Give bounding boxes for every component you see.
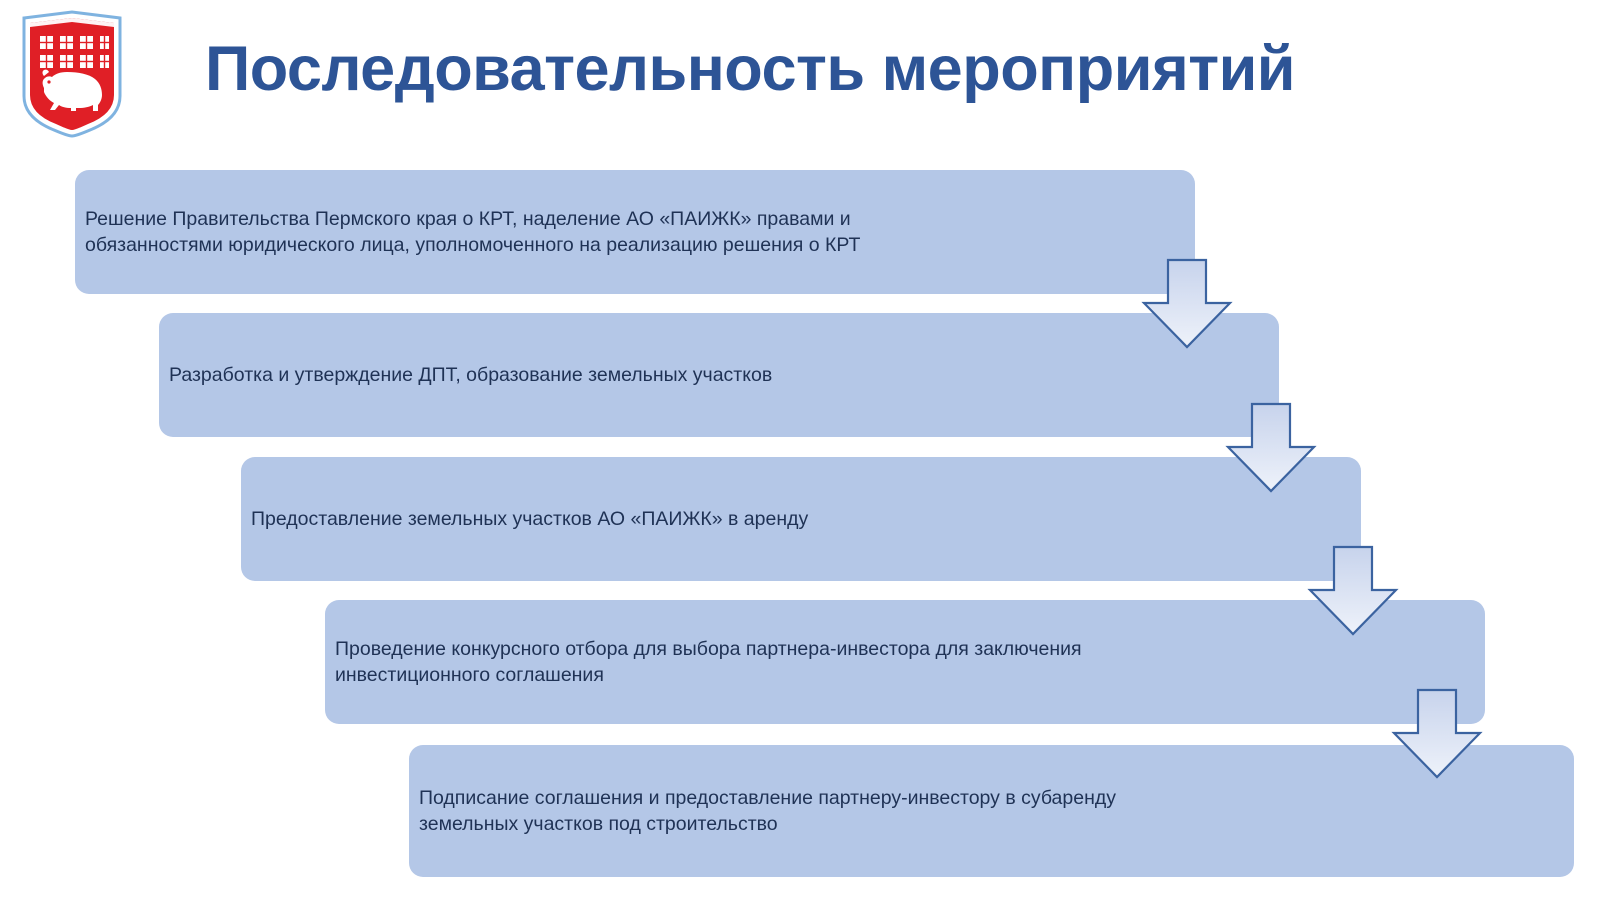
flow-step-4-label: Проведение конкурсного отбора для выбора… (335, 636, 1082, 689)
slide-canvas: Последовательность мероприятий Решение П… (0, 0, 1617, 905)
flow-step-1[interactable]: Решение Правительства Пермского края о К… (75, 170, 1195, 294)
flow-step-3-label: Предоставление земельных участков АО «ПА… (251, 506, 808, 532)
flow-step-1-label: Решение Правительства Пермского края о К… (85, 206, 860, 259)
flow-step-2-label: Разработка и утверждение ДПТ, образовани… (169, 362, 772, 388)
arrow-down-icon (1307, 545, 1399, 637)
arrow-down-icon (1141, 258, 1233, 350)
arrow-down-icon (1225, 402, 1317, 494)
flow-step-2[interactable]: Разработка и утверждение ДПТ, образовани… (159, 313, 1279, 437)
flow-step-3[interactable]: Предоставление земельных участков АО «ПА… (241, 457, 1361, 581)
arrow-down-icon (1391, 688, 1483, 780)
process-flow-diagram: Решение Правительства Пермского края о К… (0, 0, 1617, 905)
flow-step-5-label: Подписание соглашения и предоставление п… (419, 785, 1116, 838)
